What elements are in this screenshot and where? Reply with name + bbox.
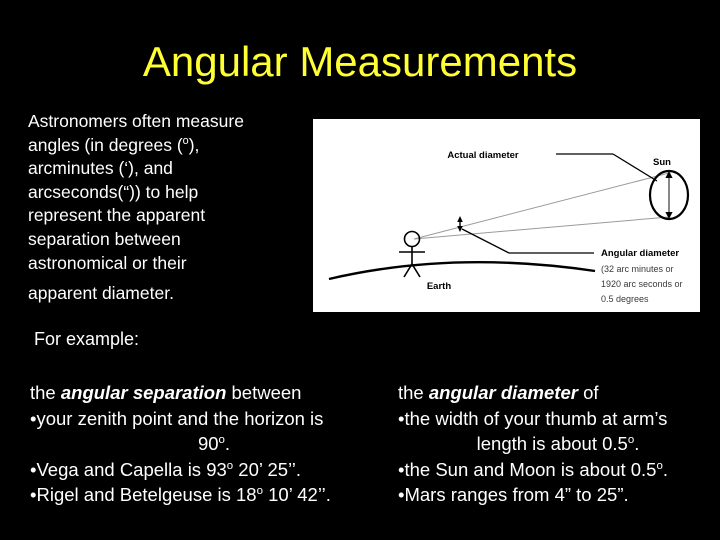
label-angular-detail-1: (32 arc minutes or xyxy=(601,264,674,274)
heading-right-post: of xyxy=(578,382,599,403)
list-item-text: Rigel and Betelgeuse is 18 xyxy=(36,484,256,505)
slide-canvas: Angular Measurements Astronomers often m… xyxy=(0,0,720,540)
intro-line-4: arcseconds(“)) to help xyxy=(28,181,300,205)
label-angular-diameter: Angular diameter xyxy=(601,248,679,259)
label-earth: Earth xyxy=(427,281,451,292)
list-item-text: the width of your thumb at arm’s xyxy=(404,408,667,429)
intro-line-8: apparent diameter. xyxy=(28,282,300,306)
list-item: •Mars ranges from 4” to 25”. xyxy=(398,482,718,508)
list-item-text-post: . xyxy=(663,459,668,480)
heading-right-emphasis: angular diameter xyxy=(429,382,578,403)
list-item-text: your zenith point and the horizon is xyxy=(36,408,323,429)
intro-line-2-pre: angles (in degrees ( xyxy=(28,135,183,155)
heading-left-post: between xyxy=(226,382,301,403)
list-item-text: Vega and Capella is 93 xyxy=(36,459,226,480)
intro-line-3: arcminutes (‘), and xyxy=(28,157,300,181)
heading-right-pre: the xyxy=(398,382,429,403)
list-item-value: 90 xyxy=(198,433,219,454)
list-item: •Vega and Capella is 93o 20’ 25’’. xyxy=(30,457,398,483)
label-angular-detail-2: 1920 arc seconds or xyxy=(601,279,683,289)
list-item-text-post: 20’ 25’’. xyxy=(233,459,301,480)
list-item-continuation: 90o. xyxy=(30,431,398,457)
list-item-text: Mars ranges from 4” to 25”. xyxy=(404,484,628,505)
angular-separation-column: the angular separation between •your zen… xyxy=(30,380,398,508)
list-item-continuation: length is about 0.5o. xyxy=(398,431,718,457)
label-actual-diameter: Actual diameter xyxy=(447,150,519,161)
for-example-label: For example: xyxy=(34,327,139,351)
list-item: •your zenith point and the horizon is xyxy=(30,406,398,432)
list-item: •the width of your thumb at arm’s xyxy=(398,406,718,432)
intro-line-2-post: ), xyxy=(189,135,200,155)
intro-line-7: astronomical or their xyxy=(28,252,300,276)
page-title: Angular Measurements xyxy=(0,38,720,86)
heading-left-emphasis: angular separation xyxy=(61,382,227,403)
intro-line-2: angles (in degrees (o), xyxy=(28,134,300,158)
column-heading-left: the angular separation between xyxy=(30,380,398,406)
column-heading-right: the angular diameter of xyxy=(398,380,718,406)
intro-line-5: represent the apparent xyxy=(28,204,300,228)
intro-paragraph: Astronomers often measure angles (in deg… xyxy=(28,110,300,306)
intro-line-6: separation between xyxy=(28,228,300,252)
list-item: •the Sun and Moon is about 0.5o. xyxy=(398,457,718,483)
intro-line-1: Astronomers often measure xyxy=(28,110,300,134)
angular-diameter-column: the angular diameter of •the width of yo… xyxy=(398,380,718,508)
list-item-value-post: . xyxy=(634,433,639,454)
label-sun: Sun xyxy=(653,157,671,168)
angular-diameter-diagram: Actual diameter Sun Earth Angular diamet… xyxy=(313,119,700,312)
list-item-value-post: . xyxy=(225,433,230,454)
heading-left-pre: the xyxy=(30,382,61,403)
list-item-text: the Sun and Moon is about 0.5 xyxy=(404,459,656,480)
label-angular-detail-3: 0.5 degrees xyxy=(601,294,649,304)
list-item-value: length is about 0.5 xyxy=(477,433,628,454)
list-item-text-post: 10’ 42’’. xyxy=(263,484,331,505)
list-item: •Rigel and Betelgeuse is 18o 10’ 42’’. xyxy=(30,482,398,508)
